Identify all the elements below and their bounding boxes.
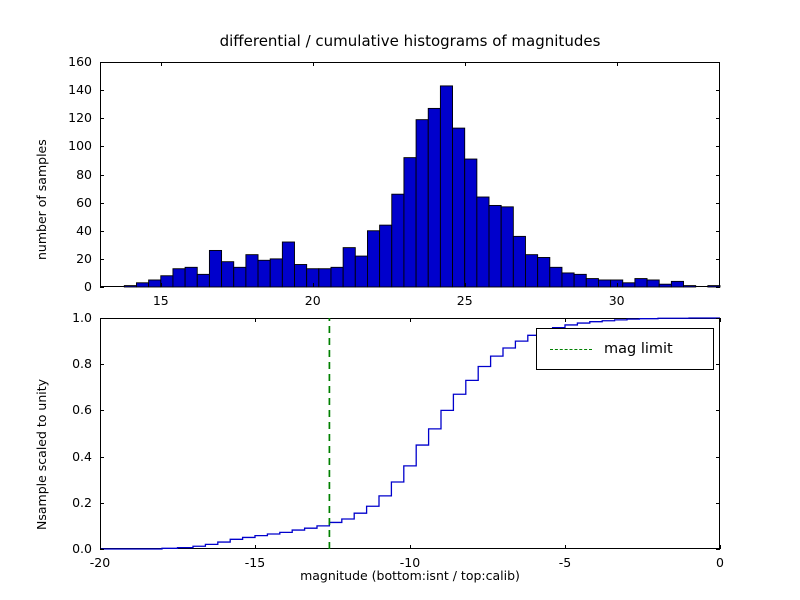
bottom-xlabel: magnitude (bottom:isnt / top:calib) xyxy=(100,568,720,583)
bottom-ytick-mark xyxy=(100,364,104,365)
bottom-xtick-mark xyxy=(720,545,721,549)
bottom-xtick-mark-top xyxy=(410,318,411,322)
legend-line-mag-limit xyxy=(550,349,592,350)
bottom-ytick-mark-right xyxy=(716,457,720,458)
bottom-xtick-mark xyxy=(255,545,256,549)
bottom-ytick-label: 0.0 xyxy=(44,541,92,556)
bottom-ytick-label: 0.8 xyxy=(44,356,92,371)
bottom-ytick-mark xyxy=(100,503,104,504)
legend-label-mag-limit: mag limit xyxy=(604,341,673,357)
figure: differential / cumulative histograms of … xyxy=(0,0,800,600)
bottom-ylabel: Nsample scaled to unity xyxy=(34,379,49,530)
bottom-xtick-mark-top xyxy=(100,318,101,322)
bottom-xtick-mark xyxy=(565,545,566,549)
bottom-ytick-label: 0.6 xyxy=(44,402,92,417)
bottom-ytick-mark-right xyxy=(716,410,720,411)
bottom-ytick-mark-right xyxy=(716,364,720,365)
bottom-ytick-label: 0.2 xyxy=(44,495,92,510)
bottom-xtick-mark-top xyxy=(255,318,256,322)
bottom-ytick-mark-right xyxy=(716,549,720,550)
bottom-panel-plot xyxy=(0,0,800,600)
bottom-ytick-mark xyxy=(100,410,104,411)
bottom-ytick-mark-right xyxy=(716,503,720,504)
bottom-ytick-mark xyxy=(100,457,104,458)
bottom-xtick-mark xyxy=(100,545,101,549)
bottom-ytick-mark xyxy=(100,549,104,550)
bottom-xtick-mark-top xyxy=(720,318,721,322)
bottom-xtick-mark-top xyxy=(565,318,566,322)
bottom-ytick-label: 1.0 xyxy=(44,310,92,325)
bottom-xtick-mark xyxy=(410,545,411,549)
bottom-ytick-label: 0.4 xyxy=(44,449,92,464)
